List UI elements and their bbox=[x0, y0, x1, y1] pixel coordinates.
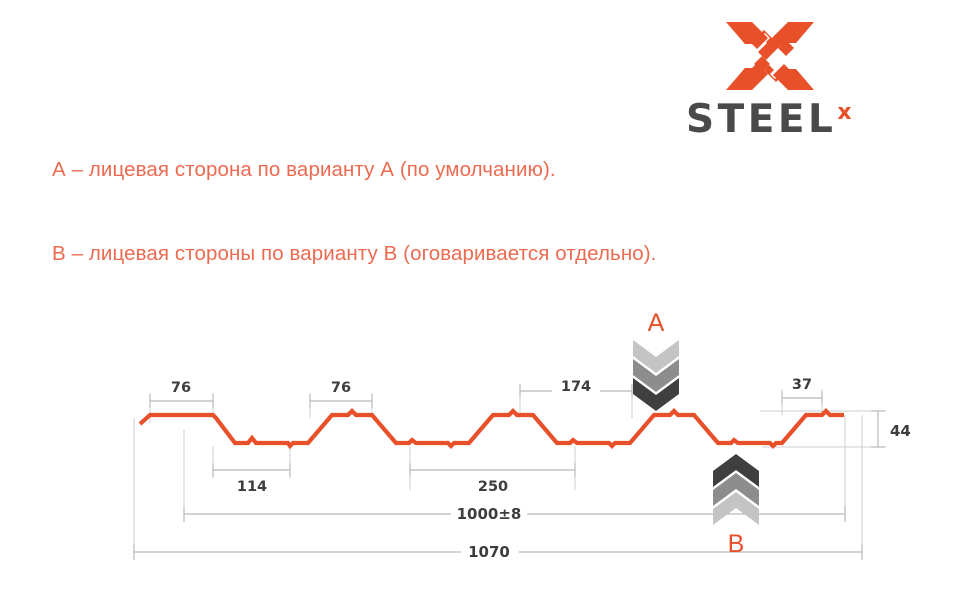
side-a-label: A bbox=[648, 309, 665, 337]
sheet-profile-line bbox=[140, 411, 844, 446]
dimension-44: 44 bbox=[871, 411, 911, 447]
dimension-250: 250 bbox=[410, 463, 575, 495]
dimension-label-114: 114 bbox=[237, 479, 267, 495]
side-b-marker: B bbox=[713, 454, 759, 558]
dimension-37: 37 bbox=[782, 375, 822, 405]
dimension-76-left: 76 bbox=[150, 377, 213, 408]
dimension-76-mid: 76 bbox=[310, 377, 372, 408]
dimension-1070: 1070 bbox=[134, 541, 862, 561]
dimension-label-76-left: 76 bbox=[171, 380, 191, 396]
dimension-label-76-mid: 76 bbox=[331, 380, 351, 396]
dimension-label-37: 37 bbox=[792, 377, 812, 393]
dimension-label-174: 174 bbox=[561, 379, 591, 395]
dimension-label-44: 44 bbox=[890, 422, 911, 440]
dimension-174: 174 bbox=[520, 377, 632, 398]
dimension-label-250: 250 bbox=[478, 479, 508, 495]
dimension-114: 114 bbox=[213, 463, 290, 495]
side-a-chevrons bbox=[633, 340, 679, 411]
dimension-label-1070: 1070 bbox=[468, 543, 510, 561]
side-a-marker: A bbox=[633, 309, 679, 411]
side-b-label: B bbox=[728, 530, 745, 558]
dimension-label-1000: 1000±8 bbox=[457, 505, 522, 523]
profile-technical-drawing: 76 76 174 37 bbox=[0, 0, 970, 597]
